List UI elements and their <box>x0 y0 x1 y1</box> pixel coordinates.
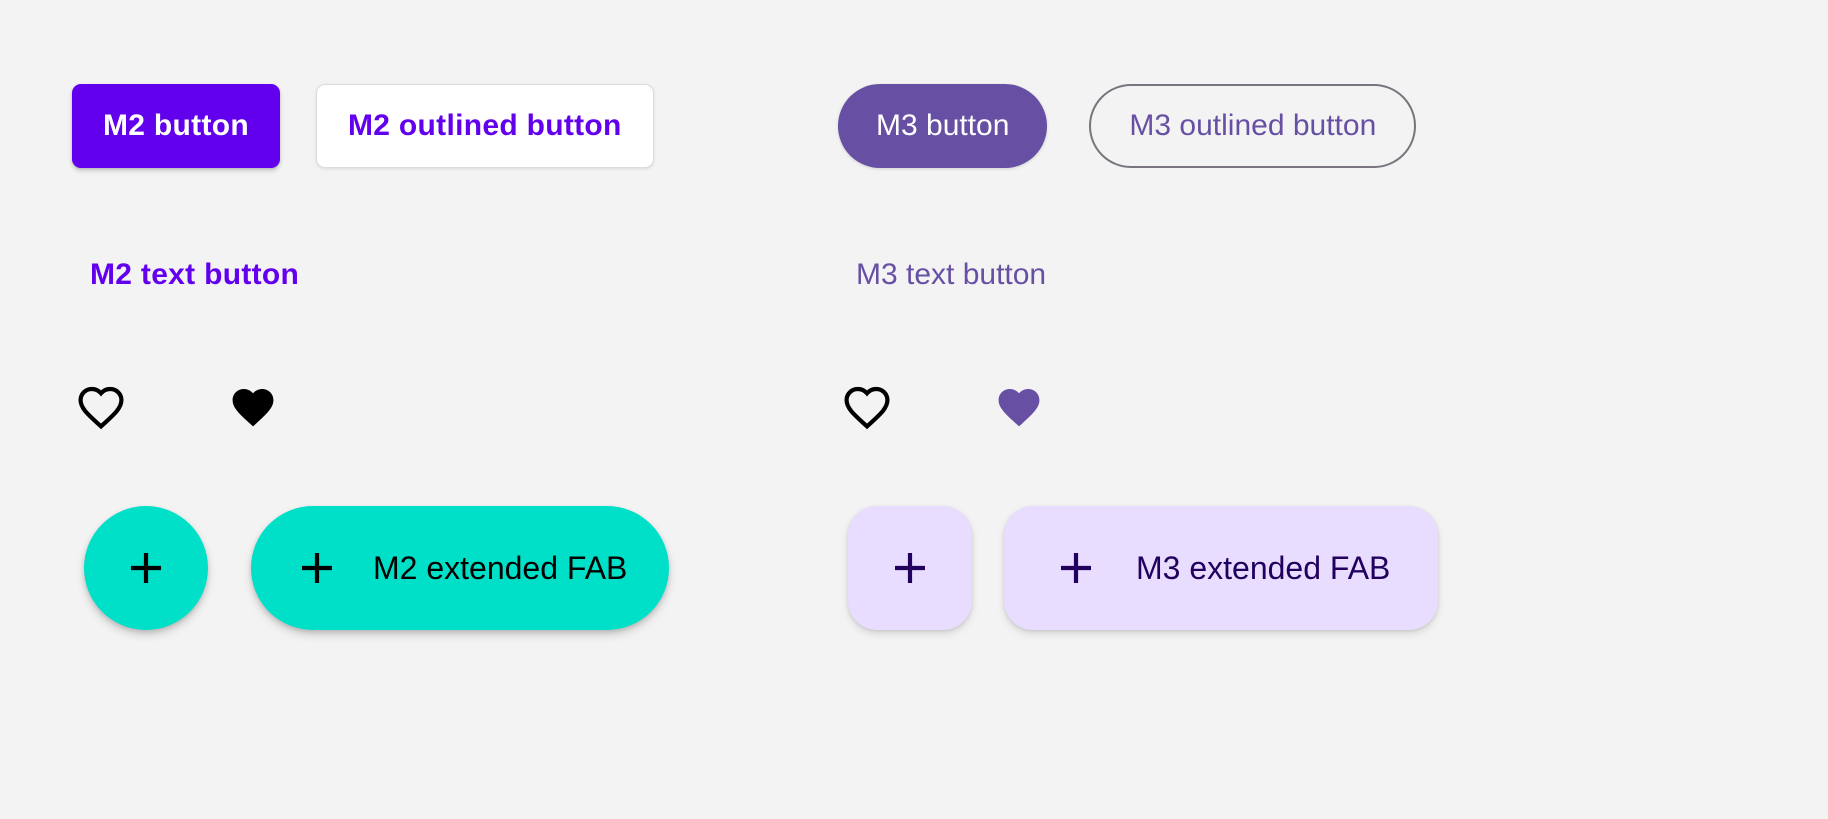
m3-fab-row: M3 extended FAB <box>848 506 1438 630</box>
m3-extended-fab-button[interactable]: M3 extended FAB <box>1004 506 1438 630</box>
m3-extended-fab-label: M3 extended FAB <box>1136 550 1390 587</box>
m3-outlined-button[interactable]: M3 outlined button <box>1089 84 1416 168</box>
heart-outline-icon <box>73 379 129 435</box>
m2-text-button-row: M2 text button <box>72 248 317 302</box>
plus-icon <box>293 544 341 592</box>
heart-filled-icon <box>991 379 1047 435</box>
m2-extended-fab-button[interactable]: M2 extended FAB <box>251 506 669 630</box>
plus-icon <box>1052 544 1100 592</box>
m3-heart-outline-icon-button[interactable] <box>838 378 896 436</box>
m3-text-button-row: M3 text button <box>838 248 1064 302</box>
m2-text-button[interactable]: M2 text button <box>72 248 317 302</box>
m2-filled-button[interactable]: M2 button <box>72 84 280 168</box>
m2-extended-fab-label: M2 extended FAB <box>373 550 627 587</box>
m2-heart-filled-icon-button[interactable] <box>224 378 282 436</box>
m3-text-button[interactable]: M3 text button <box>838 248 1064 302</box>
m3-button-row: M3 button M3 outlined button <box>838 84 1416 168</box>
component-comparison-canvas: M2 button M2 outlined button M2 text but… <box>0 0 1828 819</box>
m3-icon-row <box>838 378 1048 436</box>
m2-icon-row <box>72 378 282 436</box>
plus-icon <box>886 544 934 592</box>
heart-filled-icon <box>225 379 281 435</box>
m2-heart-outline-icon-button[interactable] <box>72 378 130 436</box>
m2-button-row: M2 button M2 outlined button <box>72 84 654 168</box>
m3-filled-button[interactable]: M3 button <box>838 84 1047 168</box>
m2-fab-button[interactable] <box>84 506 208 630</box>
plus-icon <box>122 544 170 592</box>
m3-fab-button[interactable] <box>848 506 972 630</box>
heart-outline-icon <box>839 379 895 435</box>
m2-fab-row: M2 extended FAB <box>84 506 669 630</box>
m3-heart-filled-icon-button[interactable] <box>990 378 1048 436</box>
m2-outlined-button[interactable]: M2 outlined button <box>316 84 654 168</box>
